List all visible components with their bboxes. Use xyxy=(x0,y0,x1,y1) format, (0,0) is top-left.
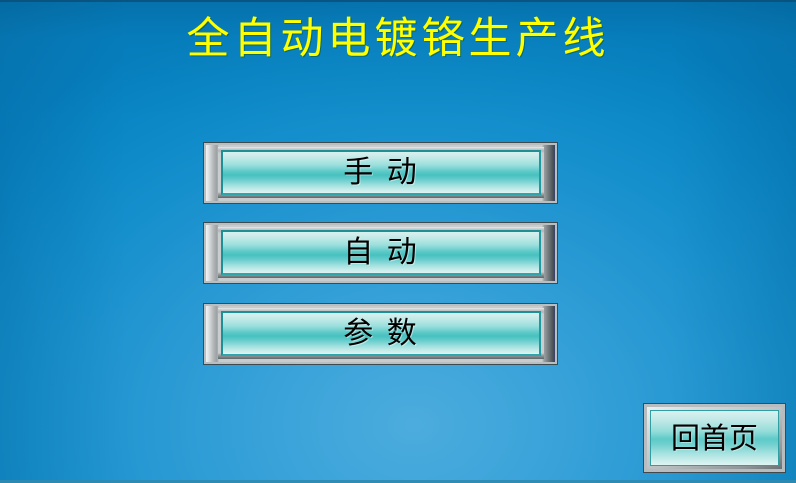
button-face-border: 手 动 xyxy=(221,150,541,195)
button-face-border: 参 数 xyxy=(221,311,541,356)
button-bevel-inner: 手 动 xyxy=(218,147,544,198)
home-button-face-border: 回首页 xyxy=(650,410,779,466)
manual-mode-button[interactable]: 手 动 xyxy=(203,142,558,204)
parameters-button-label: 参 数 xyxy=(343,317,419,351)
button-bevel-frame: 手 动 xyxy=(206,145,555,201)
page-title: 全自动电镀铬生产线 xyxy=(0,11,796,67)
auto-mode-button-label: 自 动 xyxy=(343,236,419,270)
button-face: 参 数 xyxy=(223,313,539,354)
button-face: 自 动 xyxy=(223,232,539,273)
button-bevel-frame: 参 数 xyxy=(206,306,555,362)
home-button-bevel-frame: 回首页 xyxy=(647,407,782,469)
home-button[interactable]: 回首页 xyxy=(643,403,786,473)
button-face-border: 自 动 xyxy=(221,230,541,275)
button-face: 手 动 xyxy=(223,152,539,193)
manual-mode-button-label: 手 动 xyxy=(343,156,419,190)
screen-top-border xyxy=(0,0,796,2)
auto-mode-button[interactable]: 自 动 xyxy=(203,222,558,284)
home-button-label: 回首页 xyxy=(671,422,758,455)
home-button-face: 回首页 xyxy=(651,411,778,465)
button-bevel-inner: 参 数 xyxy=(218,308,544,359)
button-bevel-frame: 自 动 xyxy=(206,225,555,281)
button-bevel-inner: 自 动 xyxy=(218,227,544,278)
hmi-screen: 全自动电镀铬生产线 手 动 自 动 xyxy=(0,0,796,483)
parameters-button[interactable]: 参 数 xyxy=(203,303,558,365)
